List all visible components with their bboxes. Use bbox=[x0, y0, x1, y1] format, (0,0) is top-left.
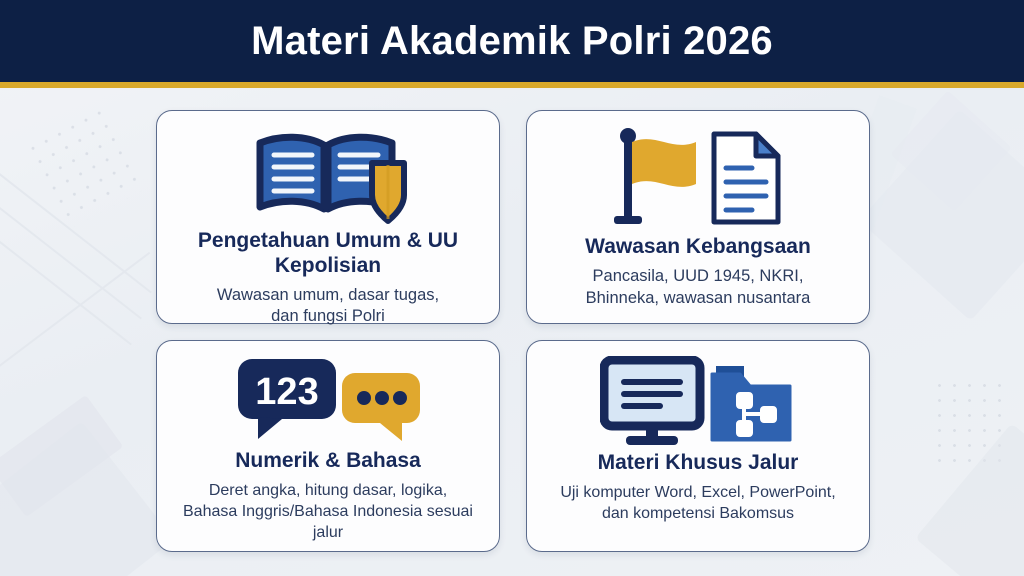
diagonal-line-1 bbox=[0, 150, 152, 293]
rect-shape-bottom-left bbox=[0, 395, 123, 517]
diagonal-line-3 bbox=[0, 202, 132, 345]
card-title: Pengetahuan Umum & UU Kepolisian bbox=[169, 229, 487, 279]
diagonal-line-2 bbox=[0, 176, 142, 319]
gold-accent-bar bbox=[0, 82, 1024, 88]
page-title: Materi Akademik Polri 2026 bbox=[251, 21, 773, 61]
card-wawasan-kebangsaan[interactable]: Wawasan Kebangsaan Pancasila, UUD 1945, … bbox=[526, 110, 870, 324]
card-title: Numerik & Bahasa bbox=[235, 449, 421, 474]
open-book-shield-icon bbox=[248, 125, 408, 225]
speech-bubbles-123-icon: 123 bbox=[234, 355, 422, 445]
diamond-shape-right-large bbox=[859, 109, 1024, 321]
card-description: Deret angka, hitung dasar, logika, Bahas… bbox=[169, 480, 487, 544]
triangle-shape-bottom-right bbox=[915, 423, 1024, 576]
flag-document-icon bbox=[610, 125, 786, 231]
diagonal-line-4 bbox=[0, 252, 150, 374]
card-numerik-bahasa[interactable]: 123 Numerik & Bahasa Deret angka, hitung… bbox=[156, 340, 500, 552]
diamond-shape-right-small bbox=[890, 90, 1011, 211]
header-bar: Materi Akademik Polri 2026 bbox=[0, 0, 1024, 82]
infographic-slide: Materi Akademik Polri 2026 bbox=[0, 0, 1024, 576]
card-title: Materi Khusus Jalur bbox=[598, 451, 799, 476]
card-materi-khusus-jalur[interactable]: Materi Khusus Jalur Uji komputer Word, E… bbox=[526, 340, 870, 552]
card-title: Wawasan Kebangsaan bbox=[585, 235, 811, 260]
card-description: Wawasan umum, dasar tugas, dan fungsi Po… bbox=[217, 285, 439, 329]
dot-grid-bottom-right bbox=[932, 378, 1010, 474]
card-description: Pancasila, UUD 1945, NKRI, Bhinneka, waw… bbox=[586, 266, 811, 310]
monitor-folder-icon bbox=[600, 355, 796, 447]
dot-grid-top-left bbox=[23, 102, 149, 230]
triangle-shape-bottom-left bbox=[0, 421, 174, 576]
card-grid: Pengetahuan Umum & UU Kepolisian Wawasan… bbox=[156, 110, 870, 550]
card-pengetahuan-umum[interactable]: Pengetahuan Umum & UU Kepolisian Wawasan… bbox=[156, 110, 500, 324]
card-description: Uji komputer Word, Excel, PowerPoint, da… bbox=[560, 482, 835, 525]
bubble-number-label: 123 bbox=[255, 371, 318, 413]
